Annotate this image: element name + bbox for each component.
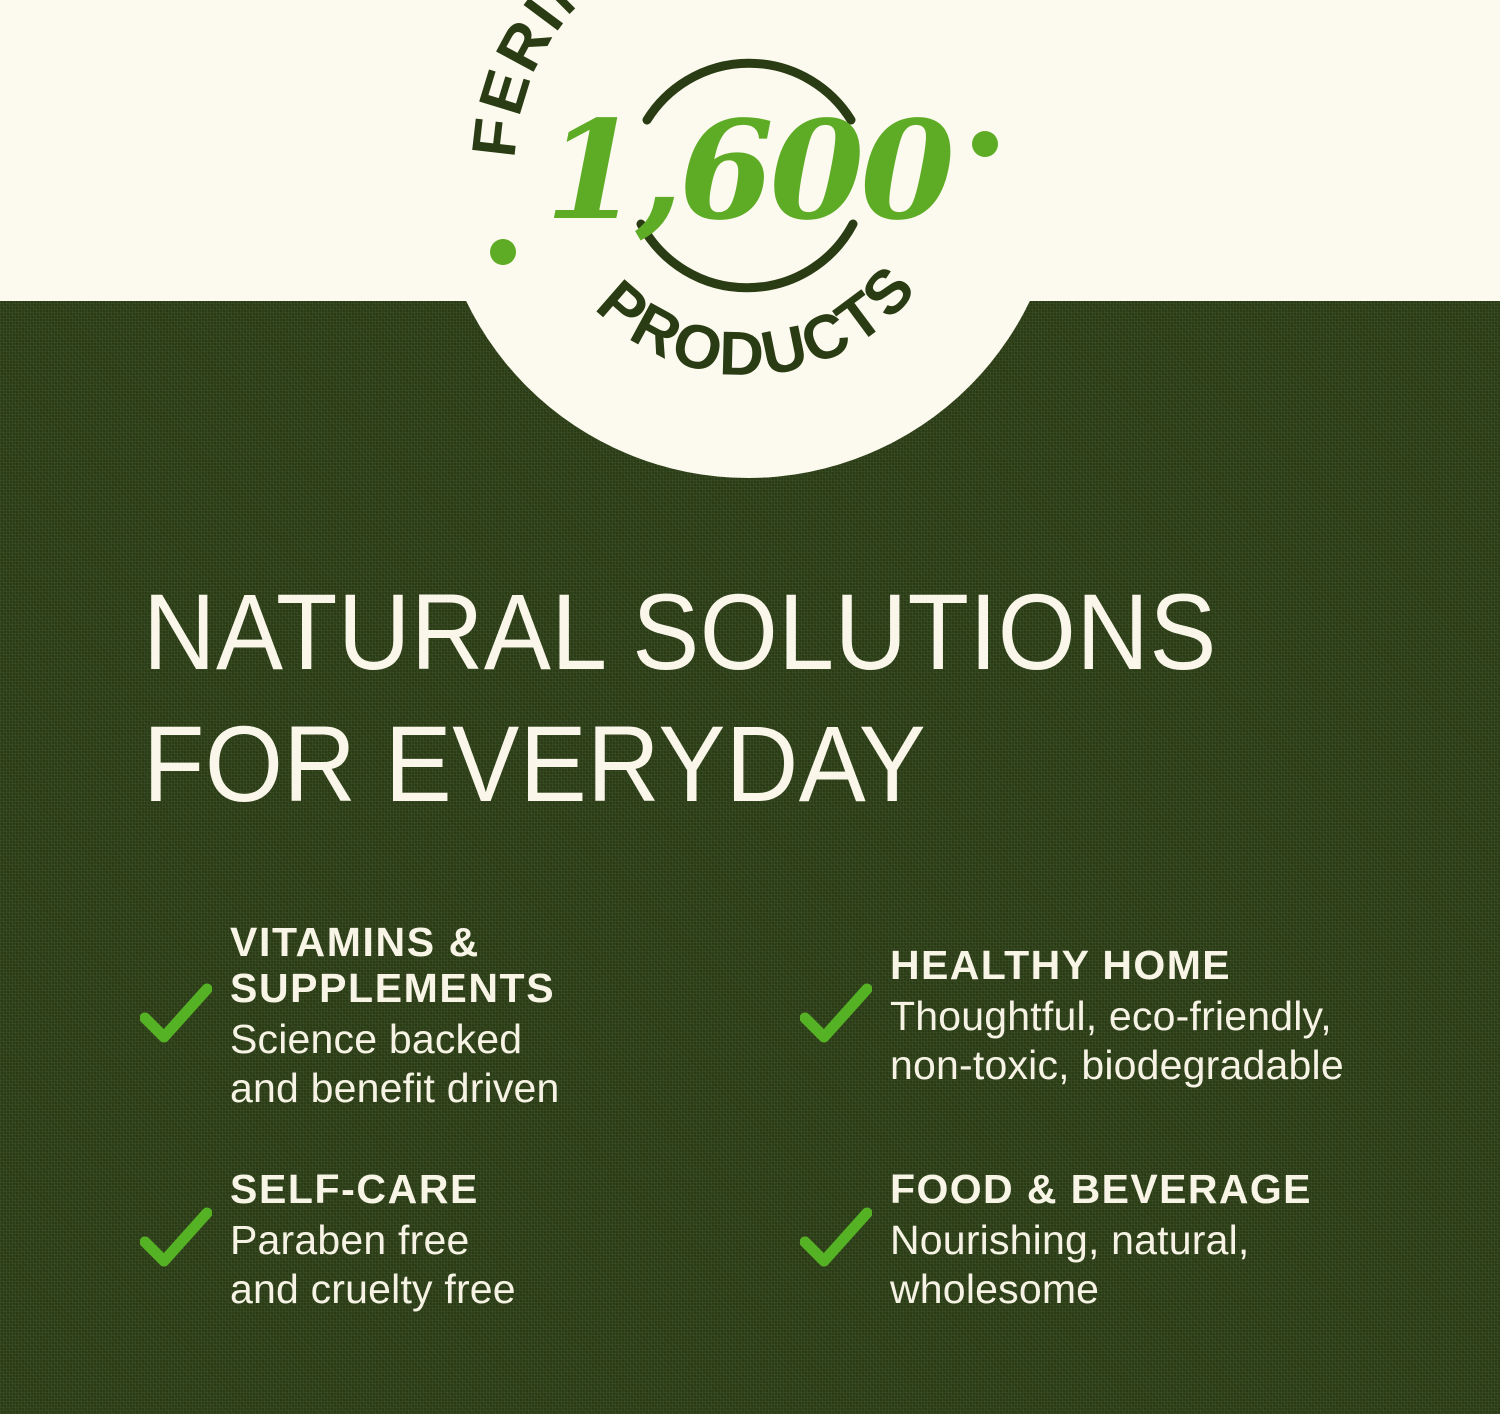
feature-healthy-home: HEALTHY HOME Thoughtful, eco-friendly, n… <box>800 866 1430 1166</box>
feature-body: HEALTHY HOME Thoughtful, eco-friendly, n… <box>890 942 1430 1090</box>
promo-poster: OFFERING OVER PRODUCTS 1,600 NATURAL SOL… <box>0 0 1500 1414</box>
badge-dot-left-icon <box>490 239 516 265</box>
feature-self-care: SELF-CARE Paraben free and cruelty free <box>140 1166 800 1314</box>
badge-product-count: 1,600 <box>545 91 954 251</box>
page-title: NATURAL SOLUTIONS FOR EVERYDAY <box>143 566 1315 830</box>
feature-description: Paraben free and cruelty free <box>230 1216 800 1314</box>
check-icon <box>140 980 212 1052</box>
offering-badge: OFFERING OVER PRODUCTS 1,600 <box>435 0 1061 478</box>
feature-body: VITAMINS & SUPPLEMENTS Science backed an… <box>230 919 800 1114</box>
feature-body: FOOD & BEVERAGE Nourishing, natural, who… <box>890 1166 1430 1314</box>
feature-title: HEALTHY HOME <box>890 942 1430 989</box>
feature-description: Nourishing, natural, wholesome <box>890 1216 1430 1314</box>
check-icon <box>800 1204 872 1276</box>
feature-title: SELF-CARE <box>230 1166 800 1213</box>
feature-list: VITAMINS & SUPPLEMENTS Science backed an… <box>140 866 1430 1314</box>
badge-bottom-arc-label: PRODUCTS <box>584 252 930 390</box>
feature-title: VITAMINS & SUPPLEMENTS <box>230 919 800 1012</box>
check-icon <box>140 1204 212 1276</box>
feature-title: FOOD & BEVERAGE <box>890 1166 1430 1213</box>
feature-description: Science backed and benefit driven <box>230 1015 800 1113</box>
feature-food-beverage: FOOD & BEVERAGE Nourishing, natural, who… <box>800 1166 1430 1314</box>
badge-dot-right-icon <box>972 131 998 157</box>
check-icon <box>800 980 872 1052</box>
feature-description: Thoughtful, eco-friendly, non-toxic, bio… <box>890 992 1430 1090</box>
feature-body: SELF-CARE Paraben free and cruelty free <box>230 1166 800 1314</box>
feature-vitamins-supplements: VITAMINS & SUPPLEMENTS Science backed an… <box>140 866 800 1166</box>
